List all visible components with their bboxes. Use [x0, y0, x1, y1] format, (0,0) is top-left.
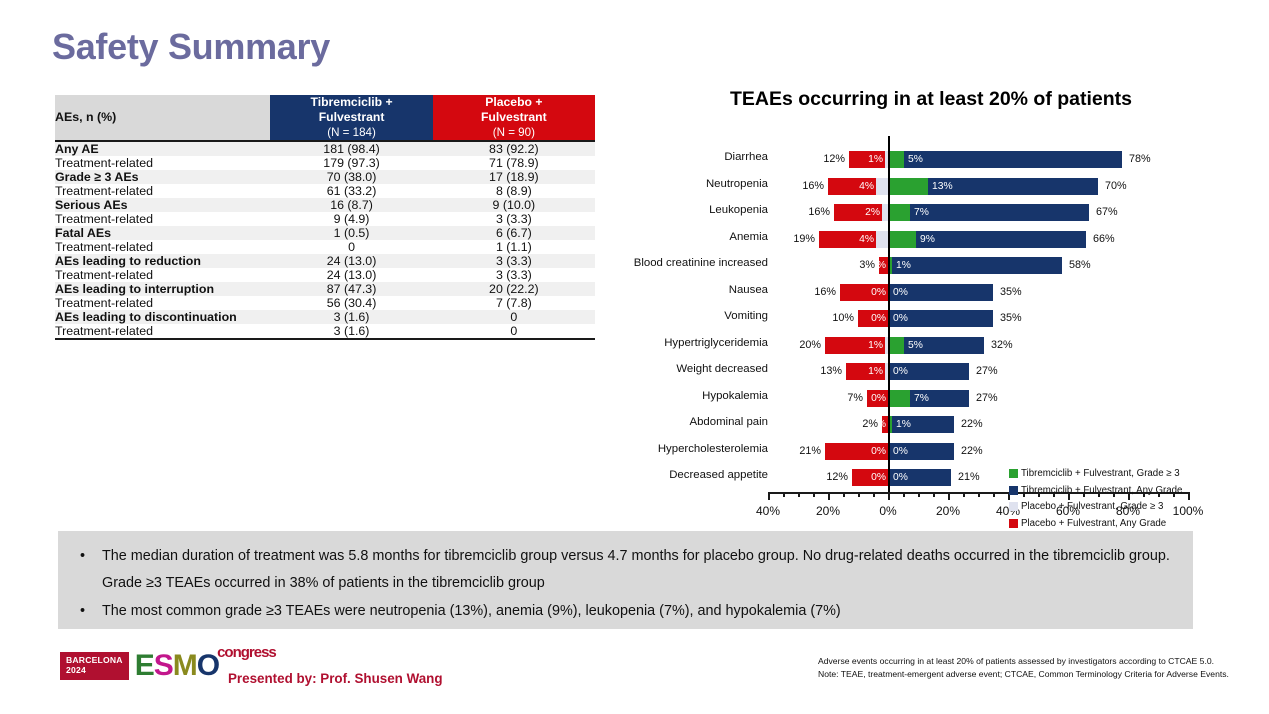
chart-bar-row: Neutropenia4%16%13%70%: [628, 171, 1228, 201]
cell-placebo: 9 (10.0): [433, 198, 595, 212]
table-header-arm-tibremciclib: Tibremciclib + Fulvestrant (N = 184): [270, 95, 432, 141]
chart-bar-row: Hypokalemia0%7%7%27%: [628, 383, 1228, 413]
label-tibremciclib-total: 22%: [961, 416, 983, 433]
segment-tibremciclib-any-grade: [891, 257, 1062, 274]
segment-tibremciclib-any-grade: [888, 284, 993, 301]
segment-placebo-any-grade: [819, 231, 876, 248]
segment-placebo-any-grade: [840, 284, 888, 301]
row-label: Treatment-related: [55, 268, 270, 282]
table-row: Treatment-related3 (1.6)0: [55, 324, 595, 339]
label-placebo-total: 3%: [847, 257, 875, 274]
chart-bar-row: Anemia4%19%9%66%: [628, 224, 1228, 254]
category-label: Decreased appetite: [669, 469, 768, 481]
bullet-item: •The most common grade ≥3 TEAEs were neu…: [80, 598, 1171, 625]
congress-word: congress: [217, 646, 276, 660]
segment-tibremciclib-any-grade: [909, 204, 1089, 221]
label-placebo-total: 16%: [808, 284, 836, 301]
row-label: Serious AEs: [55, 198, 270, 212]
category-label: Neutropenia: [706, 178, 768, 190]
x-tick-minor: [783, 492, 785, 497]
label-placebo-total: 2%: [850, 416, 878, 433]
adverse-events-table: AEs, n (%) Tibremciclib + Fulvestrant (N…: [55, 95, 595, 340]
segment-tibremciclib-grade3: [889, 337, 904, 354]
legend-item: Tibremciclib + Fulvestrant, Grade ≥ 3: [1009, 468, 1229, 479]
chart-bar-row: Hypercholesterolemia0%21%0%22%: [628, 436, 1228, 466]
x-tick-minor: [873, 492, 875, 497]
legend-label: Placebo + Fulvestrant, Grade ≥ 3: [1021, 501, 1163, 512]
label-placebo-total: 13%: [814, 363, 842, 380]
segment-tibremciclib-grade3: [889, 231, 916, 248]
x-tick-minor: [978, 492, 980, 497]
label-tibremciclib-total: 70%: [1105, 178, 1127, 195]
cell-placebo: 1 (1.1): [433, 240, 595, 254]
label-tibremciclib-total: 32%: [991, 337, 1013, 354]
x-tick-minor: [963, 492, 965, 497]
logo-letter-m: M: [173, 652, 197, 681]
row-label: AEs leading to reduction: [55, 254, 270, 268]
chart-bar-row: Nausea0%16%0%35%: [628, 277, 1228, 307]
logo-letter-s: S: [154, 652, 173, 681]
row-label: Treatment-related: [55, 296, 270, 310]
legend-label: Placebo + Fulvestrant, Any Grade: [1021, 518, 1166, 529]
cell-tibremciclib: 70 (38.0): [270, 170, 432, 184]
category-label: Hypokalemia: [702, 390, 768, 402]
cell-placebo: 0: [433, 310, 595, 324]
x-tick-major: [828, 492, 830, 500]
table-row: Serious AEs16 (8.7)9 (10.0): [55, 198, 595, 212]
label-tibremciclib-total: 67%: [1096, 204, 1118, 221]
category-label: Blood creatinine increased: [634, 257, 768, 269]
legend-swatch-icon: [1009, 486, 1018, 495]
logo-letter-e: E: [135, 652, 154, 681]
arm-n: (N = 90): [493, 126, 535, 139]
x-tick-minor: [843, 492, 845, 497]
row-label: Any AE: [55, 141, 270, 156]
label-placebo-total: 19%: [787, 231, 815, 248]
row-label: Treatment-related: [55, 156, 270, 170]
x-tick-minor: [798, 492, 800, 497]
footnote-line-1: Adverse events occurring in at least 20%…: [818, 655, 1263, 668]
legend-label: Tibremciclib + Fulvestrant, Grade ≥ 3: [1021, 468, 1180, 479]
table-row: AEs leading to discontinuation3 (1.6)0: [55, 310, 595, 324]
legend-label: Tibremciclib + Fulvestrant, Any Grade: [1021, 485, 1182, 496]
cell-placebo: 3 (3.3): [433, 268, 595, 282]
label-tibremciclib-total: 21%: [958, 469, 980, 486]
bullet-dot-icon: •: [80, 543, 102, 596]
segment-placebo-any-grade: [828, 178, 876, 195]
label-tibremciclib-total: 22%: [961, 443, 983, 460]
cell-tibremciclib: 24 (13.0): [270, 254, 432, 268]
cell-placebo: 8 (8.9): [433, 184, 595, 198]
label-tibremciclib-total: 58%: [1069, 257, 1091, 274]
segment-tibremciclib-any-grade: [903, 337, 984, 354]
cell-tibremciclib: 56 (30.4): [270, 296, 432, 310]
label-tibremciclib-total: 35%: [1000, 284, 1022, 301]
chart-bar-row: Blood creatinine increased0%3%1%58%: [628, 250, 1228, 280]
cell-placebo: 3 (3.3): [433, 254, 595, 268]
arm-line2: Fulvestrant: [319, 110, 385, 124]
segment-tibremciclib-any-grade: [888, 310, 993, 327]
cell-tibremciclib: 3 (1.6): [270, 324, 432, 339]
row-label: Treatment-related: [55, 240, 270, 254]
chart-bar-row: Hypertriglyceridemia1%20%5%32%: [628, 330, 1228, 360]
bullet-text: The most common grade ≥3 TEAEs were neut…: [102, 598, 1171, 625]
table-header-row: AEs, n (%) Tibremciclib + Fulvestrant (N…: [55, 95, 595, 141]
category-label: Weight decreased: [676, 363, 768, 375]
table-row: Treatment-related9 (4.9)3 (3.3): [55, 212, 595, 226]
x-tick-major: [768, 492, 770, 500]
chart-title: TEAEs occurring in at least 20% of patie…: [646, 88, 1216, 111]
table-row: AEs leading to reduction24 (13.0)3 (3.3): [55, 254, 595, 268]
cell-placebo: 7 (7.8): [433, 296, 595, 310]
segment-tibremciclib-any-grade: [927, 178, 1098, 195]
row-label: AEs leading to interruption: [55, 282, 270, 296]
label-tibremciclib-total: 27%: [976, 390, 998, 407]
cell-tibremciclib: 87 (47.3): [270, 282, 432, 296]
bullet-item: •The median duration of treatment was 5.…: [80, 543, 1171, 596]
x-tick-label: 20%: [936, 504, 960, 518]
label-placebo-total: 7%: [835, 390, 863, 407]
segment-tibremciclib-any-grade: [909, 390, 969, 407]
segment-tibremciclib-any-grade: [888, 363, 969, 380]
cell-tibremciclib: 3 (1.6): [270, 310, 432, 324]
x-tick-minor: [918, 492, 920, 497]
category-label: Anemia: [729, 231, 768, 243]
label-placebo-total: 21%: [793, 443, 821, 460]
segment-tibremciclib-grade3: [889, 178, 928, 195]
bullet-dot-icon: •: [80, 598, 102, 625]
segment-tibremciclib-grade3: [889, 204, 910, 221]
table-header-arm-placebo: Placebo + Fulvestrant (N = 90): [433, 95, 595, 141]
cell-tibremciclib: 16 (8.7): [270, 198, 432, 212]
page-title: Safety Summary: [52, 26, 330, 68]
table-row: Grade ≥ 3 AEs70 (38.0)17 (18.9): [55, 170, 595, 184]
cell-placebo: 20 (22.2): [433, 282, 595, 296]
row-label: Treatment-related: [55, 184, 270, 198]
barcelona-2024-badge: BARCELONA 2024: [60, 652, 129, 680]
label-placebo-total: 10%: [826, 310, 854, 327]
arm-n: (N = 184): [327, 126, 376, 139]
legend-swatch-icon: [1009, 469, 1018, 478]
chart-plot-area: Diarrhea1%12%5%78%Neutropenia4%16%13%70%…: [628, 136, 1228, 528]
cell-placebo: 17 (18.9): [433, 170, 595, 184]
x-tick-minor: [813, 492, 815, 497]
segment-placebo-grade3: [876, 178, 888, 195]
label-placebo-total: 16%: [802, 204, 830, 221]
chart-bar-row: Leukopenia2%16%7%67%: [628, 197, 1228, 227]
segment-placebo-any-grade: [879, 257, 888, 274]
cell-placebo: 71 (78.9): [433, 156, 595, 170]
table-row: Treatment-related01 (1.1): [55, 240, 595, 254]
category-label: Hypercholesterolemia: [658, 443, 768, 455]
x-tick-label: 20%: [816, 504, 840, 518]
legend-item: Tibremciclib + Fulvestrant, Any Grade: [1009, 485, 1229, 496]
table-row: Treatment-related61 (33.2)8 (8.9): [55, 184, 595, 198]
segment-placebo-any-grade: [867, 390, 888, 407]
table-row: Fatal AEs1 (0.5)6 (6.7): [55, 226, 595, 240]
table-header-label: AEs, n (%): [55, 95, 270, 141]
segment-placebo-any-grade: [834, 204, 882, 221]
table-row: Treatment-related56 (30.4)7 (7.8): [55, 296, 595, 310]
cell-placebo: 83 (92.2): [433, 141, 595, 156]
label-tibremciclib-total: 78%: [1129, 151, 1151, 168]
zero-axis-line: [888, 136, 890, 492]
row-label: Treatment-related: [55, 212, 270, 226]
cell-tibremciclib: 179 (97.3): [270, 156, 432, 170]
arm-line1: Placebo +: [485, 95, 542, 109]
label-tibremciclib-total: 35%: [1000, 310, 1022, 327]
cell-placebo: 3 (3.3): [433, 212, 595, 226]
arm-line1: Tibremciclib +: [311, 95, 393, 109]
segment-placebo-any-grade: [846, 363, 885, 380]
table-row: Any AE181 (98.4)83 (92.2): [55, 141, 595, 156]
legend-item: Placebo + Fulvestrant, Any Grade: [1009, 518, 1229, 529]
x-tick-minor: [858, 492, 860, 497]
segment-placebo-any-grade: [852, 469, 888, 486]
segment-placebo-any-grade: [858, 310, 888, 327]
segment-tibremciclib-any-grade: [903, 151, 1122, 168]
cell-placebo: 0: [433, 324, 595, 339]
segment-placebo-any-grade: [849, 151, 885, 168]
category-label: Vomiting: [724, 310, 768, 322]
row-label: AEs leading to discontinuation: [55, 310, 270, 324]
segment-placebo-grade3: [876, 231, 888, 248]
category-label: Abdominal pain: [689, 416, 768, 428]
label-placebo-total: 20%: [793, 337, 821, 354]
cell-tibremciclib: 1 (0.5): [270, 226, 432, 240]
bullet-text: The median duration of treatment was 5.8…: [102, 543, 1171, 596]
legend-swatch-icon: [1009, 519, 1018, 528]
footnote: Adverse events occurring in at least 20%…: [818, 655, 1263, 681]
segment-tibremciclib-any-grade: [888, 443, 954, 460]
chart-bar-row: Vomiting0%10%0%35%: [628, 303, 1228, 333]
cell-tibremciclib: 0: [270, 240, 432, 254]
category-label: Leukopenia: [709, 204, 768, 216]
chart-bar-row: Weight decreased1%13%0%27%: [628, 356, 1228, 386]
cell-placebo: 6 (6.7): [433, 226, 595, 240]
table-body: Any AE181 (98.4)83 (92.2)Treatment-relat…: [55, 141, 595, 339]
segment-tibremciclib-any-grade: [888, 469, 951, 486]
segment-tibremciclib-grade3: [889, 151, 904, 168]
x-tick-major: [948, 492, 950, 500]
label-tibremciclib-total: 27%: [976, 363, 998, 380]
chart-bar-row: Diarrhea1%12%5%78%: [628, 144, 1228, 174]
presented-by: Presented by: Prof. Shusen Wang: [228, 671, 443, 686]
cell-tibremciclib: 24 (13.0): [270, 268, 432, 282]
segment-tibremciclib-any-grade: [915, 231, 1086, 248]
cell-tibremciclib: 181 (98.4): [270, 141, 432, 156]
table-row: Treatment-related24 (13.0)3 (3.3): [55, 268, 595, 282]
arm-line2: Fulvestrant: [481, 110, 547, 124]
x-tick-minor: [933, 492, 935, 497]
teae-chart-panel: TEAEs occurring in at least 20% of patie…: [628, 88, 1228, 528]
segment-tibremciclib-grade3: [889, 390, 910, 407]
logo-letter-o: O: [197, 652, 219, 681]
category-label: Nausea: [729, 284, 768, 296]
chart-bar-row: Abdominal pain0%2%1%22%: [628, 409, 1228, 439]
category-label: Diarrhea: [724, 151, 768, 163]
legend-item: Placebo + Fulvestrant, Grade ≥ 3: [1009, 501, 1229, 512]
x-tick-major: [888, 492, 890, 500]
x-tick-label: 40%: [756, 504, 780, 518]
summary-bullets: •The median duration of treatment was 5.…: [58, 531, 1193, 629]
footnote-line-2: Note: TEAE, treatment-emergent adverse e…: [818, 668, 1263, 681]
row-label: Treatment-related: [55, 324, 270, 339]
label-placebo-total: 12%: [817, 151, 845, 168]
row-label: Fatal AEs: [55, 226, 270, 240]
x-tick-minor: [903, 492, 905, 497]
legend-swatch-icon: [1009, 502, 1018, 511]
cell-tibremciclib: 61 (33.2): [270, 184, 432, 198]
cell-tibremciclib: 9 (4.9): [270, 212, 432, 226]
badge-year: 2024: [66, 666, 123, 676]
table-row: AEs leading to interruption87 (47.3)20 (…: [55, 282, 595, 296]
x-tick-minor: [993, 492, 995, 497]
chart-legend: Tibremciclib + Fulvestrant, Grade ≥ 3Tib…: [1009, 468, 1229, 534]
category-label: Hypertriglyceridemia: [664, 337, 768, 349]
label-tibremciclib-total: 66%: [1093, 231, 1115, 248]
segment-placebo-any-grade: [825, 337, 885, 354]
x-tick-label: 0%: [879, 504, 896, 518]
label-placebo-total: 12%: [820, 469, 848, 486]
segment-tibremciclib-any-grade: [891, 416, 954, 433]
table-row: Treatment-related179 (97.3)71 (78.9): [55, 156, 595, 170]
segment-placebo-any-grade: [825, 443, 888, 460]
row-label: Grade ≥ 3 AEs: [55, 170, 270, 184]
label-placebo-total: 16%: [796, 178, 824, 195]
